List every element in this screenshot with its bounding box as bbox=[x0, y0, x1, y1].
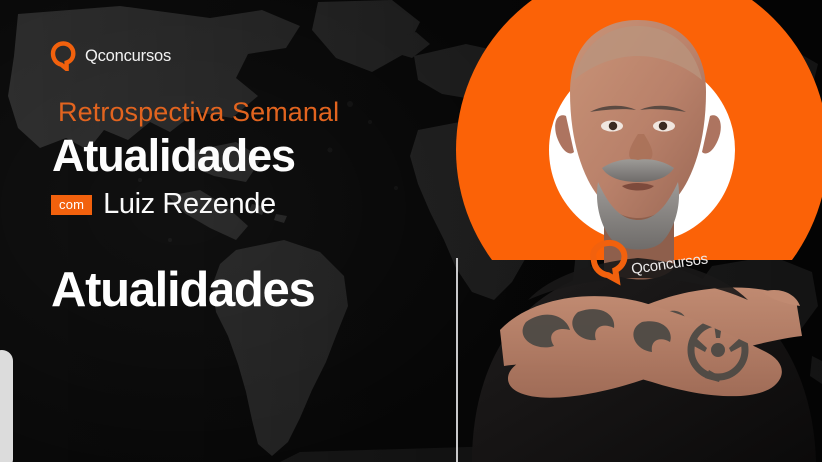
headline-text: Atualidades bbox=[52, 130, 295, 182]
kicker-text: Retrospectiva Semanal bbox=[58, 97, 339, 128]
byline-prefix-badge: com bbox=[51, 195, 92, 215]
presenter-portrait-icon: Qconcursos bbox=[466, 0, 822, 462]
presenter-name: Luiz Rezende bbox=[103, 188, 276, 221]
rounded-corner-chip-icon bbox=[0, 350, 13, 462]
byline: com Luiz Rezende bbox=[51, 188, 276, 221]
topic-title: Atualidades bbox=[51, 262, 314, 318]
video-thumbnail: Qconcursos Qconcursos Retrospectiva Sema… bbox=[0, 0, 822, 462]
qconcursos-q-mark-icon bbox=[49, 41, 76, 71]
vertical-divider-icon bbox=[456, 258, 458, 462]
brand-logo: Qconcursos bbox=[49, 41, 171, 71]
brand-name: Qconcursos bbox=[85, 47, 171, 66]
